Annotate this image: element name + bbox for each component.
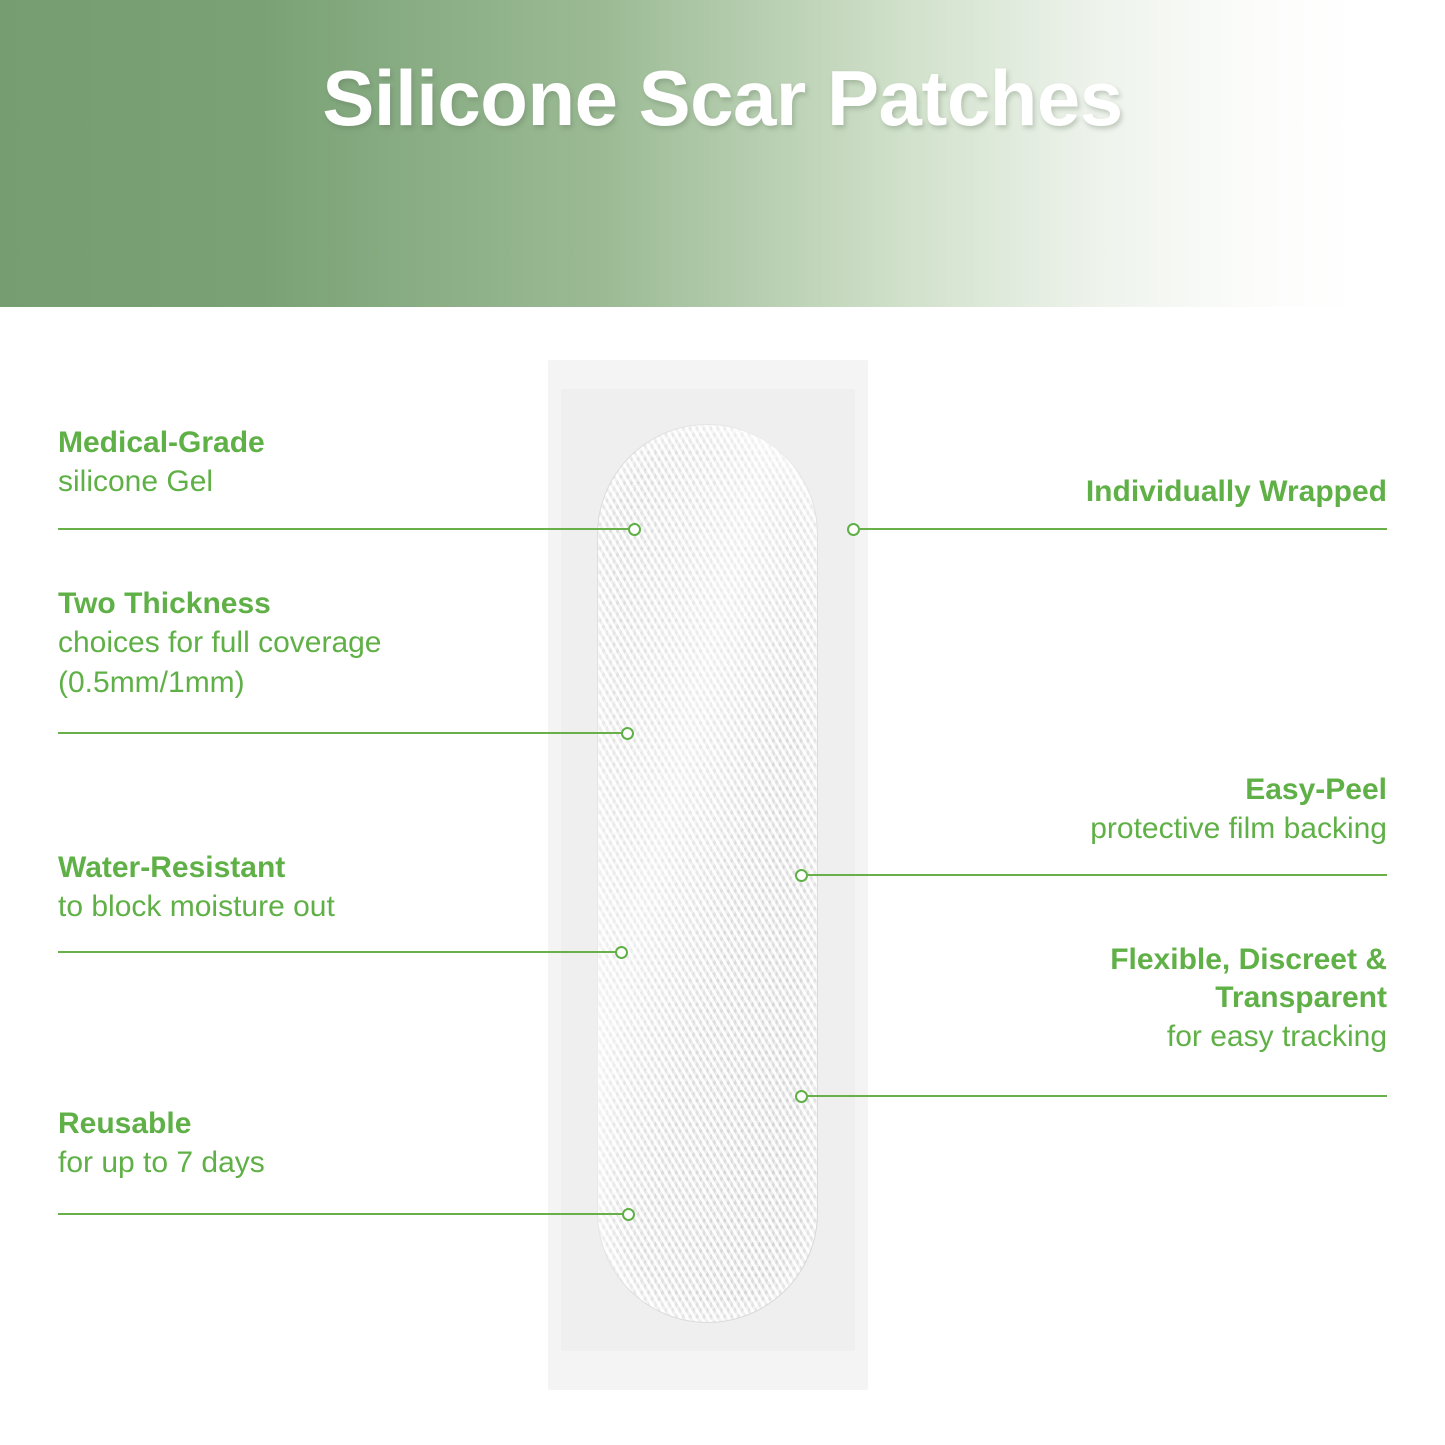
callout-reusable-endpoint <box>622 1208 635 1221</box>
callout-reusable-rule <box>58 1213 629 1215</box>
page-title: Silicone Scar Patches <box>0 0 1445 307</box>
callout-individually-wrapped-rule <box>858 528 1387 530</box>
callout-flexible-discreet-transparent-rule <box>806 1095 1387 1097</box>
callout-individually-wrapped-title: Individually Wrapped <box>887 473 1387 511</box>
callout-easy-peel-subtitle: protective film backing <box>887 809 1387 849</box>
callout-easy-peel: Easy-Peel protective film backing <box>887 771 1387 849</box>
header-banner: Silicone Scar Patches <box>0 0 1445 307</box>
callout-two-thickness-subtitle: choices for full coverage (0.5mm/1mm) <box>58 623 528 703</box>
callout-flexible-discreet-transparent-title: Flexible, Discreet & Transparent <box>947 941 1387 1017</box>
callout-two-thickness-endpoint <box>621 727 634 740</box>
callout-water-resistant-title: Water-Resistant <box>58 849 558 887</box>
callout-medical-grade-title: Medical-Grade <box>58 424 558 462</box>
callout-medical-grade-subtitle: silicone Gel <box>58 462 558 502</box>
callout-medical-grade: Medical-Grade silicone Gel <box>58 424 558 502</box>
silicone-patch <box>597 424 818 1323</box>
callout-water-resistant-rule <box>58 951 622 953</box>
callout-individually-wrapped: Individually Wrapped <box>887 473 1387 511</box>
callout-flexible-discreet-transparent-subtitle: for easy tracking <box>947 1017 1387 1057</box>
callout-water-resistant-subtitle: to block moisture out <box>58 887 558 927</box>
callout-two-thickness-title: Two Thickness <box>58 585 528 623</box>
callout-reusable-title: Reusable <box>58 1105 558 1143</box>
callout-easy-peel-title: Easy-Peel <box>887 771 1387 809</box>
callout-reusable-subtitle: for up to 7 days <box>58 1143 558 1183</box>
callout-medical-grade-rule <box>58 528 635 530</box>
callout-two-thickness-rule <box>58 732 628 734</box>
callout-flexible-discreet-transparent: Flexible, Discreet & Transparent for eas… <box>947 941 1387 1057</box>
infographic-canvas: Silicone Scar Patches Medical-Grade sili… <box>0 0 1445 1445</box>
callout-easy-peel-rule <box>806 874 1387 876</box>
callout-two-thickness: Two Thickness choices for full coverage … <box>58 585 528 703</box>
callout-medical-grade-endpoint <box>628 523 641 536</box>
callout-reusable: Reusable for up to 7 days <box>58 1105 558 1183</box>
callout-water-resistant-endpoint <box>615 946 628 959</box>
callout-water-resistant: Water-Resistant to block moisture out <box>58 849 558 927</box>
